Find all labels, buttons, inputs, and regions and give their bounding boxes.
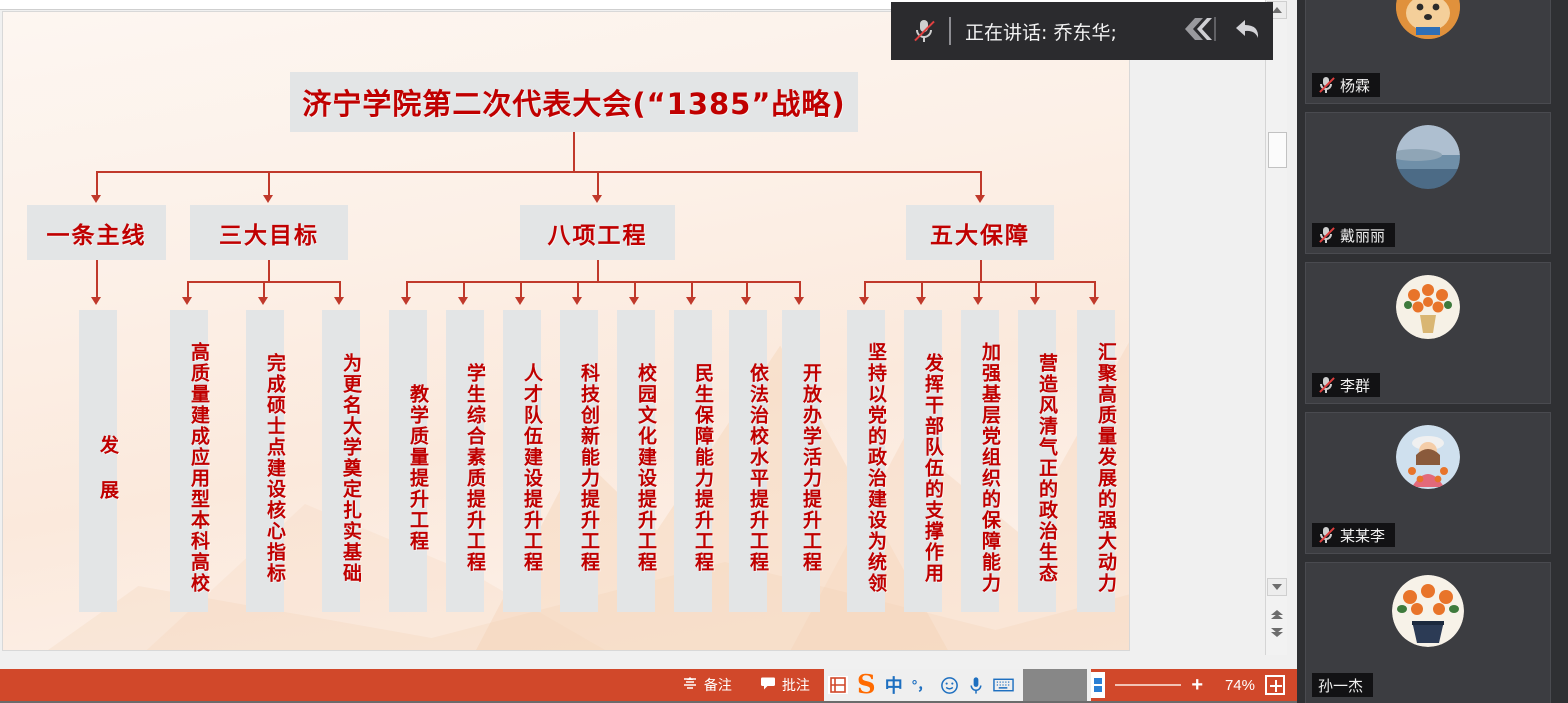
diagram-node-level3[interactable]: 民生保障能力提升工程	[674, 310, 712, 612]
scroll-down-icon[interactable]	[1267, 578, 1287, 596]
diagram-node-level3[interactable]: 学生综合素质提升工程	[446, 310, 484, 612]
connector-arrow	[572, 297, 582, 305]
divider	[949, 17, 951, 45]
notes-icon	[682, 676, 698, 694]
diagram-node-level2[interactable]: 五大保障	[906, 205, 1054, 260]
connector-arrow	[263, 195, 273, 203]
flower-basket-avatar	[1392, 575, 1464, 647]
diagram-node-level3[interactable]: 教学质量提升工程	[389, 310, 427, 612]
mic-muted-icon	[1318, 526, 1334, 544]
diagram-node-level3[interactable]: 人才队伍建设提升工程	[503, 310, 541, 612]
diagram-node-level3[interactable]: 开放办学活力提升工程	[782, 310, 820, 612]
slide-canvas[interactable]: 济宁学院第二次代表大会(“1385”战略) 一条主线 三大目标 八项工程 五大保…	[2, 11, 1130, 651]
diagram-node-level2[interactable]: 三大目标	[190, 205, 348, 260]
sogou-ime-bar[interactable]: S 中 °，	[824, 669, 1091, 701]
microphone-icon[interactable]	[968, 676, 984, 695]
diagram-node-level3[interactable]: 依法治校水平提升工程	[729, 310, 767, 612]
zoom-controls[interactable]: + 74%	[1091, 672, 1297, 698]
girl-illustration-avatar	[1396, 425, 1460, 489]
connector-arrow	[1089, 297, 1099, 305]
connector-arrow	[91, 297, 101, 305]
participant-name-chip: 戴丽丽	[1312, 223, 1395, 247]
diagram-node-level3[interactable]: 加强基层党组织的保障能力	[961, 310, 999, 612]
comment-icon	[760, 676, 776, 694]
diagram-node-level3[interactable]: 汇聚高质量发展的强大动力	[1077, 310, 1115, 612]
diagram-node-level2[interactable]: 八项工程	[520, 205, 675, 260]
comment-label: 批注	[782, 675, 810, 695]
mic-muted-icon	[913, 19, 935, 43]
connector-drop	[96, 260, 98, 301]
vertical-scrollbar[interactable]	[1265, 0, 1287, 655]
ime-punctuation-toggle[interactable]: °，	[912, 675, 932, 695]
zoom-percent-label[interactable]: 74%	[1213, 677, 1255, 694]
scrollbar-thumb[interactable]	[1268, 132, 1287, 168]
diagram-node-level3[interactable]: 坚持以党的政治建设为统领	[847, 310, 885, 612]
participant-name: 杨霖	[1340, 75, 1370, 96]
participant-name-chip: 李群	[1312, 373, 1380, 397]
mic-muted-icon	[1318, 76, 1334, 94]
cartoon-fox-avatar	[1396, 0, 1460, 39]
mic-muted-icon	[1318, 226, 1334, 244]
connector-arrow	[741, 297, 751, 305]
status-bar: 备注 批注 S	[0, 669, 1297, 701]
participant-name: 某某李	[1340, 525, 1385, 546]
diagram-node-level3[interactable]: 发 展	[79, 310, 117, 612]
participant-name: 孙一杰	[1318, 675, 1363, 696]
diagram-node-level3[interactable]: 营造风清气正的政治生态	[1018, 310, 1056, 612]
dictionary-icon[interactable]	[828, 676, 848, 694]
fit-to-window-icon[interactable]	[1265, 675, 1285, 695]
diagram-node-level3[interactable]: 为更名大学奠定扎实基础	[322, 310, 360, 612]
notes-button[interactable]: 备注	[668, 669, 746, 701]
soft-keyboard-icon[interactable]	[993, 677, 1014, 693]
connector-arrow	[859, 297, 869, 305]
comment-button[interactable]: 批注	[746, 669, 824, 701]
reply-arrow-icon[interactable]	[1233, 15, 1263, 48]
participant-rail[interactable]: 杨霖 戴丽丽	[1297, 0, 1568, 703]
connector-arrow	[258, 297, 268, 305]
flower-bouquet-avatar	[1396, 275, 1460, 339]
connector-arrow	[458, 297, 468, 305]
participant-tile[interactable]: 某某李	[1305, 412, 1551, 554]
next-slide-icon[interactable]	[1267, 624, 1287, 642]
connector-arrow	[916, 297, 926, 305]
slide-diagram: 济宁学院第二次代表大会(“1385”战略) 一条主线 三大目标 八项工程 五大保…	[3, 12, 1129, 650]
connector-arrow	[334, 297, 344, 305]
diagram-node-level3[interactable]: 完成硕士点建设核心指标	[246, 310, 284, 612]
participant-name-chip: 杨霖	[1312, 73, 1380, 97]
screen: 济宁学院第二次代表大会(“1385”战略) 一条主线 三大目标 八项工程 五大保…	[0, 0, 1568, 703]
speaking-now-label: 正在讲话: 乔东华;	[965, 18, 1167, 45]
participant-name-chip: 某某李	[1312, 523, 1395, 547]
connector-trunk	[573, 132, 575, 172]
mic-muted-icon	[1318, 376, 1334, 394]
connector-arrow	[592, 195, 602, 203]
connector-arrow	[686, 297, 696, 305]
participant-name: 李群	[1340, 375, 1370, 396]
zoom-in-button[interactable]: +	[1191, 674, 1203, 697]
diagram-node-level3[interactable]: 校园文化建设提升工程	[617, 310, 655, 612]
diagram-node-level2[interactable]: 一条主线	[27, 205, 166, 260]
zoom-slider[interactable]	[1115, 684, 1181, 686]
connector-arrow	[182, 297, 192, 305]
ime-drag-handle[interactable]	[1023, 669, 1087, 701]
participant-name: 戴丽丽	[1340, 225, 1385, 246]
connector-arrow	[629, 297, 639, 305]
sogou-logo-icon[interactable]: S	[857, 672, 876, 698]
notes-label: 备注	[704, 675, 732, 695]
connector-arrow	[91, 195, 101, 203]
diagram-node-level3[interactable]: 发挥干部队伍的支撑作用	[904, 310, 942, 612]
seaside-photo-avatar	[1396, 125, 1460, 189]
connector-drop	[980, 260, 982, 282]
participant-tile[interactable]: 李群	[1305, 262, 1551, 404]
diagram-node-level3[interactable]: 高质量建成应用型本科高校	[170, 310, 208, 612]
diagram-node-level3[interactable]: 科技创新能力提升工程	[560, 310, 598, 612]
connector-arrow	[973, 297, 983, 305]
speaking-now-banner[interactable]: 正在讲话: 乔东华;	[891, 2, 1273, 60]
collapse-arrows-icon[interactable]	[1181, 14, 1219, 49]
ime-mode-toggle[interactable]: 中	[885, 672, 903, 698]
connector-arrow	[794, 297, 804, 305]
previous-slide-icon[interactable]	[1267, 605, 1287, 623]
participant-tile[interactable]: 孙一杰	[1305, 562, 1551, 703]
view-mode-icon[interactable]	[1091, 672, 1105, 698]
connector-drop	[268, 260, 270, 282]
wps-presentation-window: 济宁学院第二次代表大会(“1385”战略) 一条主线 三大目标 八项工程 五大保…	[0, 0, 1297, 703]
connector-bus-level2	[96, 171, 982, 173]
participant-name-chip: 孙一杰	[1312, 673, 1373, 697]
connector-arrow	[1030, 297, 1040, 305]
participant-tile[interactable]: 戴丽丽	[1305, 112, 1551, 254]
emoji-icon[interactable]	[940, 676, 959, 695]
diagram-title-box[interactable]: 济宁学院第二次代表大会(“1385”战略)	[290, 72, 858, 132]
connector-arrow	[975, 195, 985, 203]
connector-arrow	[515, 297, 525, 305]
connector-drop	[597, 260, 599, 282]
connector-arrow	[401, 297, 411, 305]
participant-tile[interactable]: 杨霖	[1305, 0, 1551, 104]
